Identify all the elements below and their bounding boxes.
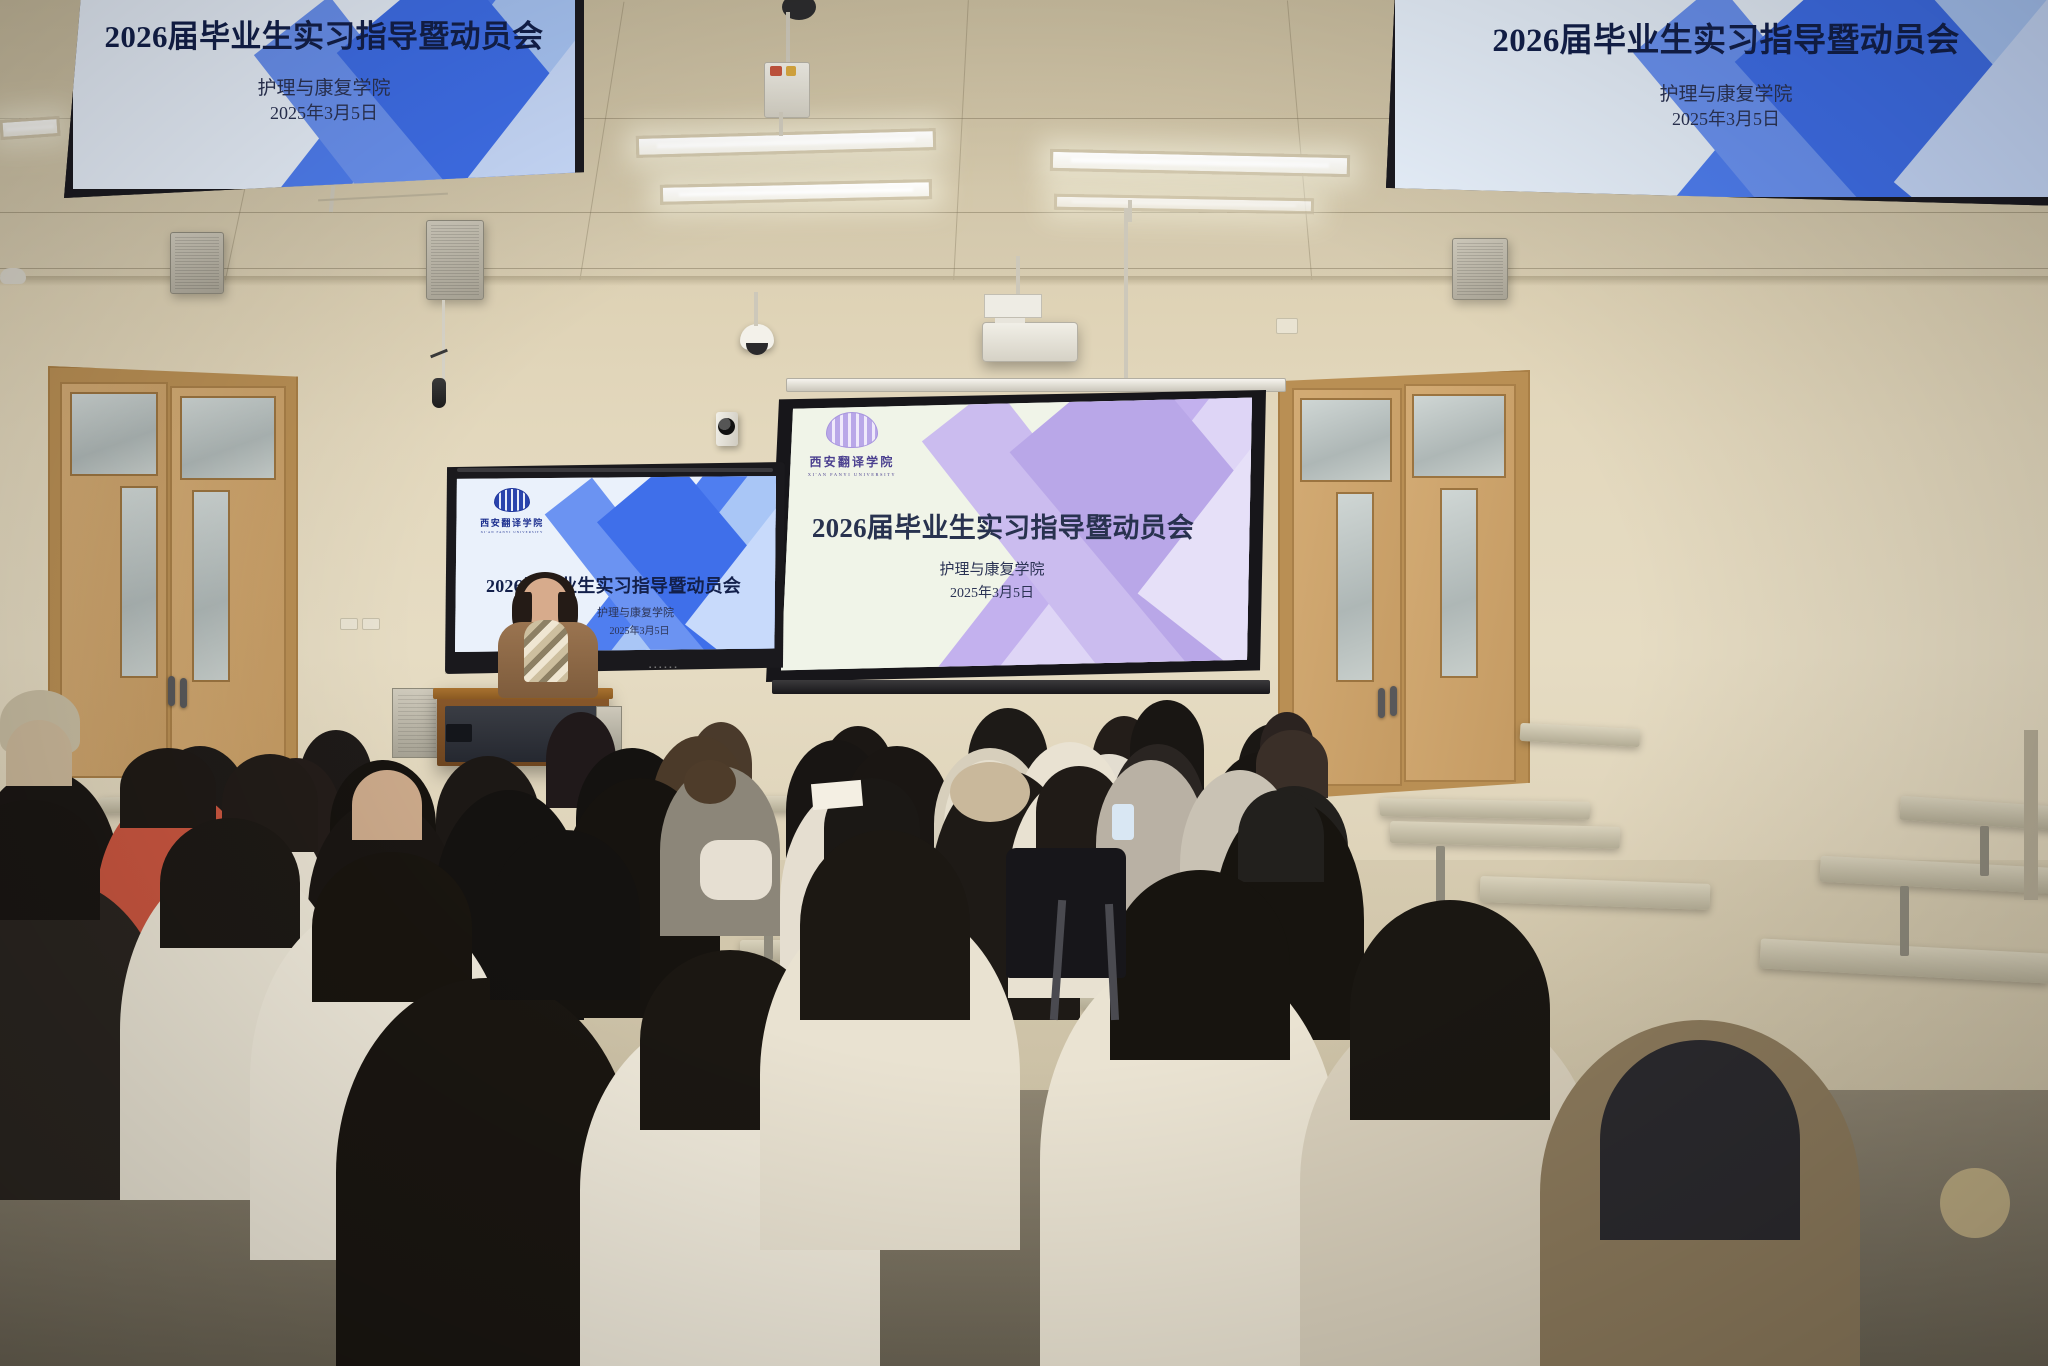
logo-cn: 西安翻译学院 <box>469 516 555 529</box>
ceiling-light <box>0 116 61 140</box>
smoke-detector <box>0 268 26 284</box>
box-camera <box>716 412 738 446</box>
wall-speaker-right <box>1452 238 1508 300</box>
vertical-post <box>2024 730 2038 900</box>
conduit <box>779 112 783 136</box>
wall-outlet[interactable] <box>340 618 358 630</box>
audience-member <box>1238 790 1324 882</box>
audience-member <box>1600 1040 1800 1240</box>
logo-cn: 西安翻译学院 <box>792 453 912 470</box>
slide-subtitle-org: 护理与康复学院 <box>766 558 1218 579</box>
desk-leg <box>1900 886 1909 956</box>
audience-member <box>160 818 300 948</box>
door-right-glass-b <box>1412 394 1506 478</box>
audience-member <box>700 840 772 900</box>
audience-member <box>800 830 970 1020</box>
ceiling-monitor-right[interactable]: 2026届毕业生实习指导暨动员会 护理与康复学院 2025年3月5日 <box>1386 0 2048 206</box>
wall-outlet[interactable] <box>1276 318 1298 334</box>
brand-logo: XFU 西安翻译学院 XI'AN FANYI UNIVERSITY <box>792 412 912 477</box>
projected-slide: XFU 西安翻译学院 XI'AN FANYI UNIVERSITY 2026届毕… <box>766 390 1266 682</box>
desk-leg <box>1980 826 1989 876</box>
audience-member <box>950 762 1030 822</box>
audience-member <box>684 760 736 804</box>
presenter-scarf <box>524 620 568 682</box>
door-right-vision-panel-b <box>1440 488 1478 678</box>
dome-camera-rod <box>754 292 758 326</box>
audience-member <box>120 748 216 828</box>
monitor-mount <box>1128 200 1132 222</box>
door-left-handle-a[interactable] <box>168 676 175 706</box>
boom-microphone[interactable] <box>432 378 446 408</box>
door-left-glass-b <box>180 396 276 480</box>
presenter <box>492 578 604 696</box>
audience-member <box>312 852 472 1002</box>
desk-leg <box>1436 846 1445 906</box>
paper-sheet <box>811 780 863 810</box>
logo-en: XI'AN FANYI UNIVERSITY <box>792 472 912 477</box>
slide-subtitle-date: 2025年3月5日 <box>73 99 575 125</box>
ceiling-projector <box>982 322 1078 362</box>
slide-surface: 2026届毕业生实习指导暨动员会 护理与康复学院 2025年3月5日 <box>1395 0 2048 197</box>
audience-member <box>1350 900 1550 1120</box>
ceiling-monitor-left[interactable]: 2026届毕业生实习指导暨动员会 护理与康复学院 2025年3月5日 <box>64 0 584 198</box>
slide-surface: 2026届毕业生实习指导暨动员会 护理与康复学院 2025年3月5日 <box>73 0 575 189</box>
panel-sensor-strip <box>457 468 773 472</box>
wall-outlet[interactable] <box>362 618 380 630</box>
logo-en: XI'AN FANYI UNIVERSITY <box>469 530 555 534</box>
panel-brand-strip: ▪ ▪ ▪ ▪ ▪ ▪ <box>649 665 677 671</box>
audience-member <box>6 720 72 786</box>
speaker-rod <box>786 12 790 64</box>
desk-row <box>1380 798 1590 820</box>
door-right-handle-a[interactable] <box>1378 688 1385 718</box>
badge-patch <box>1940 1168 2010 1238</box>
device-indicator <box>770 66 782 76</box>
slide-subtitle-date: 2025年3月5日 <box>1395 105 2048 131</box>
globe-icon <box>494 488 530 512</box>
screen-drop-rod <box>1124 208 1128 380</box>
door-right-glass-a <box>1300 398 1392 482</box>
projection-screen[interactable]: XFU 西安翻译学院 XI'AN FANYI UNIVERSITY 2026届毕… <box>766 390 1266 682</box>
audience-member <box>490 830 640 1000</box>
slide-subtitle-date: 2025年3月5日 <box>766 582 1218 602</box>
audience-member <box>1110 870 1290 1060</box>
wall-speaker-left <box>170 232 224 294</box>
door-right-vision-panel-a <box>1336 492 1374 682</box>
projector-plate <box>984 294 1042 318</box>
slide-title: 2026届毕业生实习指导暨动员会 <box>73 11 575 56</box>
slide-subtitle-org: 护理与康复学院 <box>1395 79 2048 106</box>
slide-subtitle-org: 护理与康复学院 <box>73 73 575 100</box>
door-right-handle-b[interactable] <box>1390 686 1397 716</box>
lecture-hall-photo: 2026届毕业生实习指导暨动员会 护理与康复学院 2025年3月5日 2026届… <box>0 0 2048 1366</box>
microphone-boom <box>442 300 445 384</box>
slide-title: 2026届毕业生实习指导暨动员会 <box>770 506 1236 545</box>
screen-casing <box>786 378 1286 392</box>
slide-title: 2026届毕业生实习指导暨动员会 <box>1395 13 2048 61</box>
device-indicator <box>786 66 796 76</box>
audience-member <box>352 770 422 840</box>
door-left-vision-panel-a <box>120 486 158 678</box>
screen-weight-bar <box>772 680 1270 694</box>
brand-logo: XFU 西安翻译学院 XI'AN FANYI UNIVERSITY <box>469 488 555 534</box>
dome-camera <box>740 324 774 350</box>
door-left-glass-a <box>70 392 158 476</box>
door-left-handle-b[interactable] <box>180 678 187 708</box>
globe-icon <box>826 412 878 448</box>
water-bottle[interactable] <box>1112 804 1134 840</box>
wall-speaker-center <box>426 220 484 300</box>
door-left-vision-panel-b <box>192 490 230 682</box>
lectern-monitor <box>446 724 472 742</box>
